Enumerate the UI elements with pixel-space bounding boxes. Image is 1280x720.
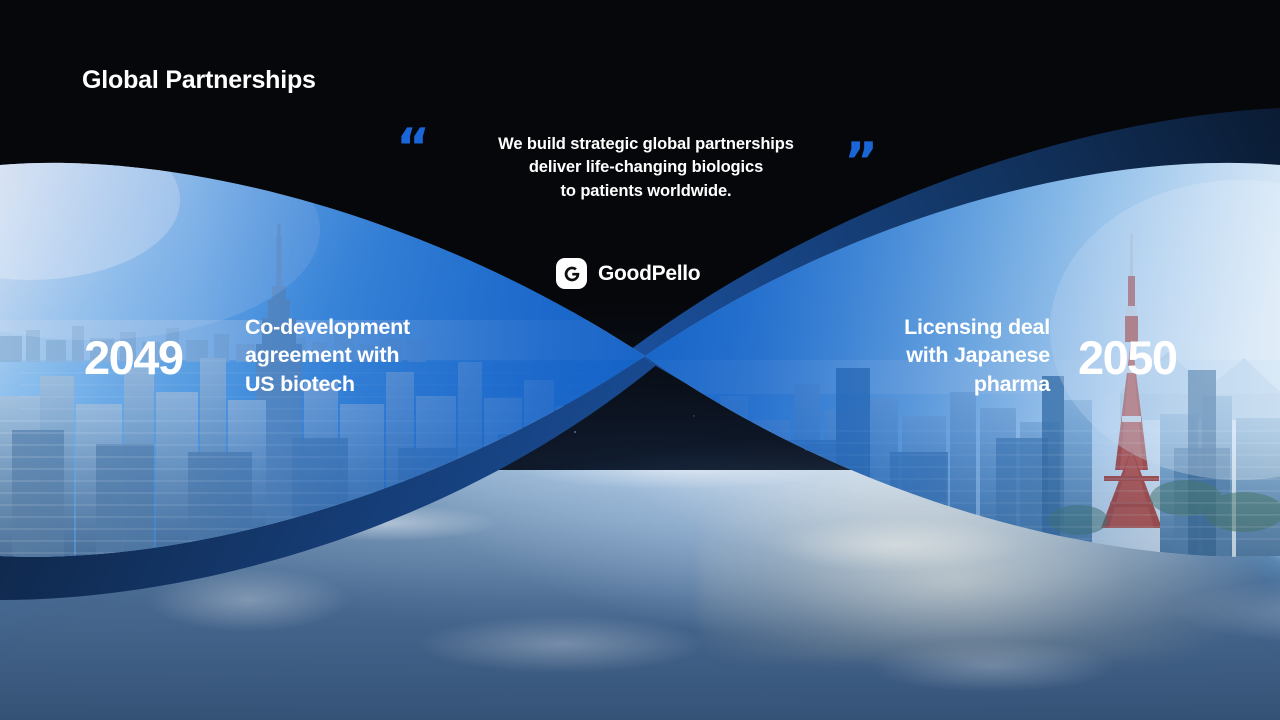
quote-text: We build strategic global partnerships d… xyxy=(446,133,846,203)
brand-lockup: GoodPello xyxy=(556,258,700,289)
caption-left-line-3: US biotech xyxy=(245,372,355,396)
slide-canvas: Global Partnerships “ ” We build strateg… xyxy=(0,0,1280,720)
caption-left-line-2: agreement with xyxy=(245,343,399,367)
page-title: Global Partnerships xyxy=(82,66,316,95)
caption-right-line-1: Licensing deal xyxy=(904,315,1050,339)
milestone-year-left: 2049 xyxy=(84,334,183,381)
caption-right-line-2: with Japanese xyxy=(906,343,1050,367)
brand-name: GoodPello xyxy=(598,262,700,286)
quote-close-icon: ” xyxy=(844,136,878,188)
caption-left-line-1: Co-development xyxy=(245,315,410,339)
quote-open-icon: “ xyxy=(396,122,430,174)
goodpello-g-logo-icon xyxy=(556,258,587,289)
milestone-year-right: 2050 xyxy=(1078,334,1177,381)
milestone-caption-right: Licensing deal with Japanese pharma xyxy=(800,313,1050,398)
quote-line-1: We build strategic global partnerships xyxy=(498,135,794,153)
milestone-caption-left: Co-development agreement with US biotech xyxy=(245,313,495,398)
quote-line-2: deliver life-changing biologics xyxy=(529,158,763,176)
caption-right-line-3: pharma xyxy=(974,372,1050,396)
quote-line-3: to patients worldwide. xyxy=(560,182,731,200)
